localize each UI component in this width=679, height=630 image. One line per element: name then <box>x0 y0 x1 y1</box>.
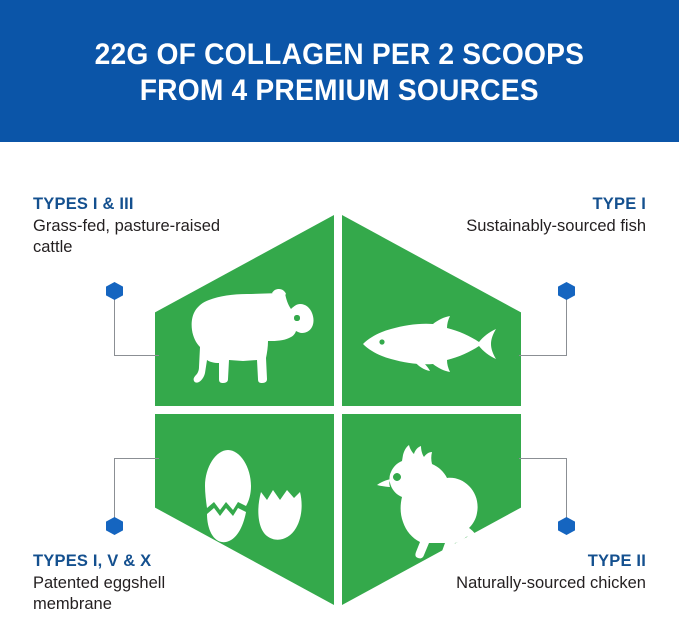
connector-line-top-right-vertical <box>566 299 567 355</box>
connector-line-bottom-left-vertical <box>114 458 115 525</box>
connector-marker-top-left <box>106 282 123 300</box>
source-label-top-right: TYPE I Sustainably-sourced fish <box>431 194 646 237</box>
source-label-top-left: TYPES I & III Grass-fed, pasture-raised … <box>33 194 248 258</box>
source-label-bottom-left: TYPES I, V & X Patented eggshell membran… <box>33 551 248 615</box>
connector-marker-bottom-right <box>558 517 575 535</box>
connector-line-top-right-horizontal <box>519 355 567 356</box>
cow-icon <box>173 287 316 387</box>
infographic-stage: TYPES I & III Grass-fed, pasture-raised … <box>0 142 679 630</box>
egg-icon <box>195 448 305 548</box>
header-title-line-2: FROM 4 PREMIUM SOURCES <box>140 73 539 109</box>
connector-marker-bottom-left <box>106 517 123 535</box>
connector-marker-top-right <box>558 282 575 300</box>
connector-line-top-left-vertical <box>114 299 115 355</box>
header-title-line-1: 22G OF COLLAGEN PER 2 SCOOPS <box>95 37 584 73</box>
source-description-egg: Patented eggshell membrane <box>33 573 248 615</box>
source-title-chicken: TYPE II <box>431 551 646 571</box>
source-description-cow: Grass-fed, pasture-raised cattle <box>33 216 248 258</box>
source-description-fish: Sustainably-sourced fish <box>431 216 646 237</box>
hexagon-diagram <box>155 215 521 605</box>
connector-line-bottom-left-horizontal <box>114 458 159 459</box>
source-title-fish: TYPE I <box>431 194 646 214</box>
header-banner: 22G OF COLLAGEN PER 2 SCOOPS FROM 4 PREM… <box>0 0 679 142</box>
fish-icon <box>360 315 505 373</box>
connector-line-bottom-right-horizontal <box>519 458 567 459</box>
source-label-bottom-right: TYPE II Naturally-sourced chicken <box>431 551 646 594</box>
source-title-egg: TYPES I, V & X <box>33 551 248 571</box>
connector-line-bottom-right-vertical <box>566 458 567 525</box>
source-title-cow: TYPES I & III <box>33 194 248 214</box>
source-description-chicken: Naturally-sourced chicken <box>431 573 646 594</box>
chicken-icon <box>367 443 485 561</box>
connector-line-top-left-horizontal <box>114 355 159 356</box>
hexagon-quadrant-fish <box>342 215 521 406</box>
